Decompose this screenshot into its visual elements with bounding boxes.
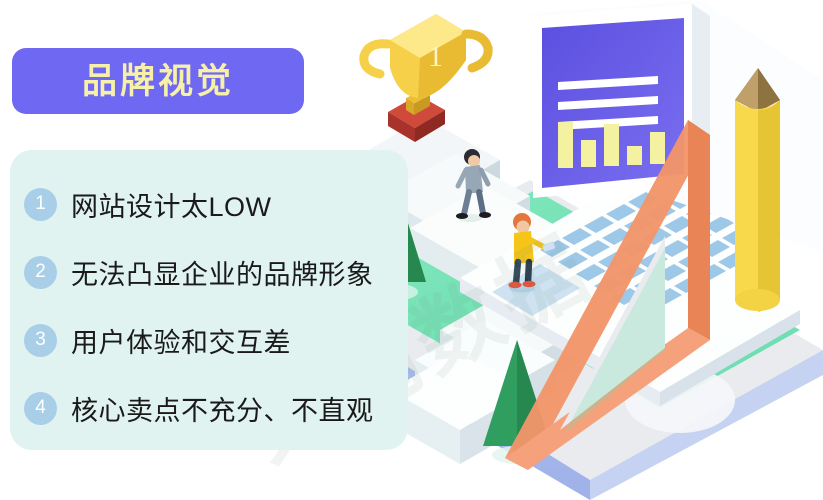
list-item-label: 无法凸显企业的品牌形象 <box>71 253 374 292</box>
list-item: 3 用户体验和交互差 <box>24 308 450 372</box>
list-item-label: 用户体验和交互差 <box>71 321 291 360</box>
title-badge-label: 品牌视觉 <box>82 64 234 99</box>
trophy-icon: 1 <box>364 14 488 142</box>
list-item: 1 网站设计太LOW <box>24 172 450 236</box>
screen-lines <box>558 76 658 130</box>
list-item-label: 网站设计太LOW <box>71 185 272 224</box>
trophy-number: 1 <box>428 40 443 73</box>
list-item-number: 3 <box>24 324 57 357</box>
list-item-number: 1 <box>24 188 57 221</box>
title-badge: 品牌视觉 <box>12 48 304 114</box>
list-item: 2 无法凸显企业的品牌形象 <box>24 240 450 304</box>
list-item: 4 核心卖点不充分、不直观 <box>24 376 450 440</box>
list-item-number: 2 <box>24 256 57 289</box>
feature-list: 1 网站设计太LOW 2 无法凸显企业的品牌形象 3 用户体验和交互差 4 核心… <box>10 150 450 450</box>
list-item-number: 4 <box>24 392 57 425</box>
list-item-label: 核心卖点不充分、不直观 <box>71 389 374 428</box>
poster-canvas: 1 <box>0 0 823 500</box>
